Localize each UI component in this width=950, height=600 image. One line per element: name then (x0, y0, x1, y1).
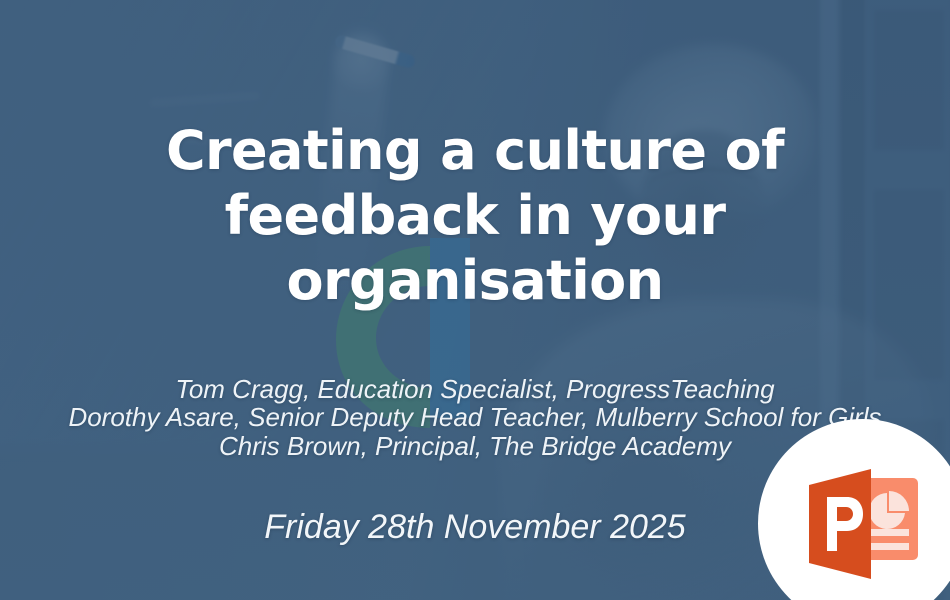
powerpoint-icon (799, 463, 927, 585)
slide-title: Creating a culture of feedback in your o… (125, 0, 825, 313)
presenter-line: Tom Cragg, Education Specialist, Progres… (0, 375, 950, 403)
presenter-line: Dorothy Asare, Senior Deputy Head Teache… (0, 403, 950, 431)
presentation-slide: Creating a culture of feedback in your o… (0, 0, 950, 600)
